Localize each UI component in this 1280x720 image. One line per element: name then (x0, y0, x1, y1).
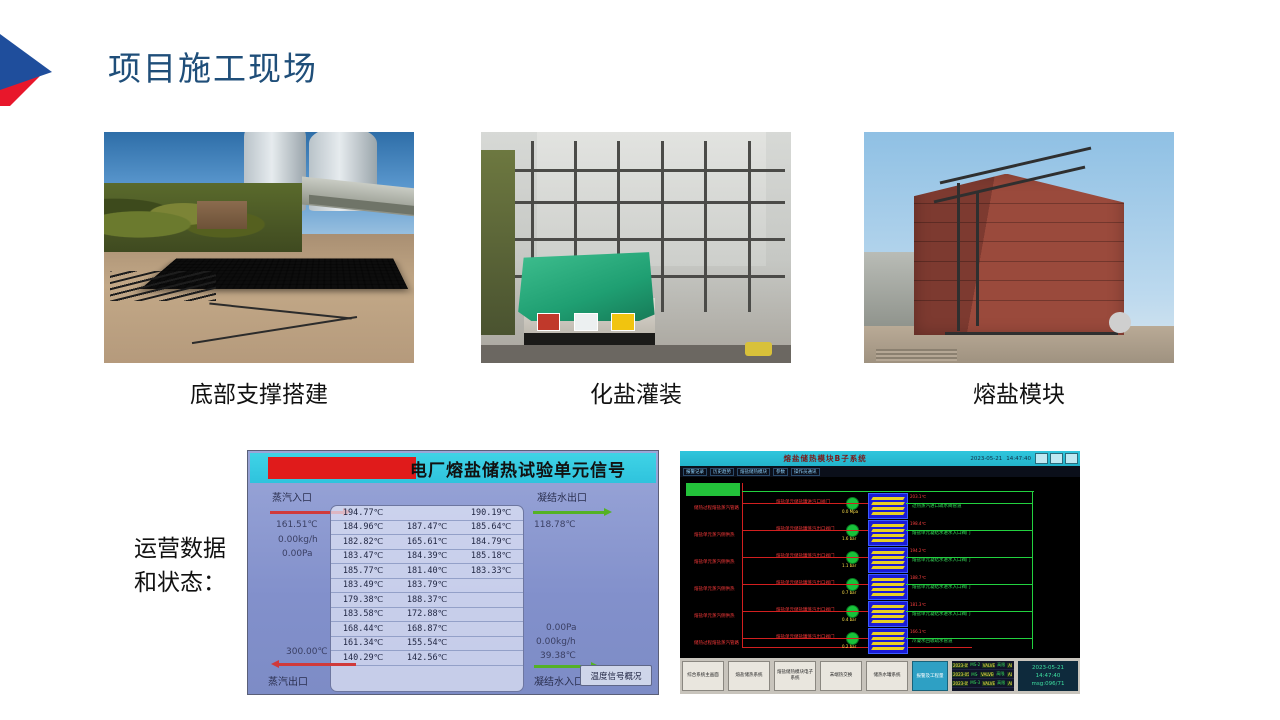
scada-mid-label: 熔盐单元储盐罐蒸汽出口阀门 (776, 607, 835, 613)
header-line-bottom (742, 647, 972, 648)
steel-stack (876, 349, 957, 361)
coil-bar (871, 561, 905, 564)
status-indicator-green (686, 483, 740, 496)
alarm-log-cell: VALVEOPEN/LOW (982, 681, 995, 686)
temperature-row: 168.44℃168.87℃ (331, 622, 523, 637)
scada-mid-label: 熔盐单元储盐罐蒸汽出口阀门 (776, 634, 835, 640)
plant-wall (537, 132, 766, 266)
scada-mimic-diagram: 储热过程熔盐蒸汽管路熔盐单元储盐罐进汽口阀门过热蒸汽进口疏水阀管道0.0 Mpa… (680, 477, 1080, 658)
heat-exchanger-module[interactable] (868, 520, 908, 546)
scada-nav-buttons[interactable]: 综合系统主画面熔盐储热系统熔盐储热模块电子系统末端热交换储热水罐系统 (680, 658, 910, 694)
scada-title: 熔盐储热模块B子系统 (680, 453, 970, 464)
temperature-cell: 183.79℃ (395, 580, 459, 590)
operations-label-line2: 和状态： (100, 566, 260, 600)
coil-bar (871, 556, 905, 559)
temperature-cell: 194.77℃ (331, 508, 395, 518)
scada-footer: 综合系统主画面熔盐储热系统熔盐储热模块电子系统末端热交换储热水罐系统 报警及工程… (680, 658, 1080, 694)
steam-inlet-pressure: 0.00Pa (282, 549, 313, 559)
steam-branch-line (742, 530, 868, 531)
coil-bar (871, 578, 905, 581)
scada-menu-bar[interactable]: 报警记录历史趋势熔盐储热模块参数操作员通讯 (680, 466, 1080, 477)
temperature-cell: 185.64℃ (459, 522, 523, 532)
temperature-cell: 182.82℃ (331, 537, 395, 547)
hmi-title-bar: 电厂熔盐储热试验单元信号 (250, 453, 656, 483)
scada-time: 14:47:40 (1006, 456, 1035, 462)
temperature-cell: 140.29℃ (331, 653, 395, 663)
coil-bar (871, 605, 905, 608)
coil-bar (871, 512, 905, 515)
temperature-row (331, 666, 523, 680)
temperature-row: 194.77℃190.19℃ (331, 506, 523, 521)
coil-bar (871, 620, 905, 623)
scaffold-rail (493, 169, 784, 172)
steam-branch-line (742, 503, 868, 504)
alarm-log-list[interactable]: 2023-05-21 14:46:02MS-2 模块 Pt-6VALVEOPEN… (952, 661, 1014, 691)
scada-left-label: 熔盐单元蒸汽侧供热 (694, 532, 735, 538)
photo1-scene (104, 132, 414, 363)
site-container (197, 201, 247, 229)
pump-value: 0.4 bar (842, 617, 856, 622)
coil-bar (871, 588, 905, 591)
temperature-cell: 161.34℃ (331, 638, 395, 648)
heat-exchanger-module[interactable] (868, 628, 908, 654)
steam-inlet-flow: 0.00kg/h (278, 535, 318, 545)
temperature-cell: 188.37℃ (395, 595, 459, 605)
temperature-cell: 155.54℃ (395, 638, 459, 648)
header-line-top (742, 491, 1034, 492)
temperature-cell: 181.40℃ (395, 566, 459, 576)
condensate-branch-line (906, 611, 1032, 612)
coil-bar (871, 615, 905, 618)
coil-bar (871, 610, 905, 613)
temperature-cell: 142.56℃ (395, 653, 459, 663)
coil-bar (871, 583, 905, 586)
temperature-cell: 168.87℃ (395, 624, 459, 634)
scada-clock-panel: 2023-05-21 14:47:40 msg:096/71 (1018, 661, 1078, 691)
scada-menu-item[interactable]: 参数 (773, 468, 788, 476)
page-title: 项目施工现场 (108, 42, 318, 90)
alarm-log-cell: 2023-05-21 14:46:41 (952, 672, 969, 677)
module-temperature: 188.7℃ (910, 575, 926, 580)
pump-value: 0.0 Mpa (842, 509, 858, 514)
coil-bar (871, 524, 905, 527)
photo3-scene (864, 132, 1174, 363)
scaffold-rail (493, 201, 784, 204)
alarm-log-row[interactable]: 2023-05-21 14:47:10MS-3 模块 Pt-9VALVEOPEN… (952, 679, 1014, 688)
pump-value: 0.7 bar (842, 590, 856, 595)
temperature-cell: 183.58℃ (331, 609, 395, 619)
scaffold-rail (493, 238, 784, 241)
alarm-log-cell: MS-2 模块 Pt-6 (970, 662, 980, 668)
alarm-log-cell: ALM (1007, 663, 1012, 668)
msg-counter: msg:096/71 (1032, 680, 1065, 688)
temperature-cell: 168.44℃ (331, 624, 395, 634)
scaffold-post (748, 141, 751, 312)
temperature-cell: 165.61℃ (395, 537, 459, 547)
coil-bar (871, 632, 905, 635)
double-arrow-logo (0, 28, 56, 106)
alarm-log-cell: VALVEOPEN/LOW (980, 672, 994, 677)
temperature-row: 183.47℃184.39℃185.18℃ (331, 550, 523, 565)
tree (481, 150, 515, 335)
scada-title-bar: 熔盐储热模块B子系统 2023-05-21 14:47:40 (680, 451, 1080, 466)
scada-left-label: 熔盐单元蒸汽侧供热 (694, 586, 735, 592)
temperature-cell: 179.38℃ (331, 595, 395, 605)
coil-bar (871, 593, 905, 596)
maximize-button[interactable] (1050, 453, 1063, 464)
scada-menu-item[interactable]: 操作员通讯 (791, 468, 820, 476)
temperature-row: 182.82℃165.61℃184.79℃ (331, 535, 523, 550)
pump-value: 1.6 bar (842, 536, 856, 541)
condensate-outlet-temp: 118.78℃ (534, 520, 576, 530)
warning-sign (611, 313, 635, 331)
green-tarp (518, 252, 654, 321)
minimize-button[interactable] (1035, 453, 1048, 464)
temperature-cell: 185.77℃ (331, 566, 395, 576)
alarm-log-cell: ALM (1007, 672, 1012, 677)
scada-nav-button[interactable]: 熔盐储热系统 (728, 661, 770, 691)
valve (1109, 312, 1131, 333)
photo-foundation-support (104, 132, 414, 363)
heat-exchanger-module[interactable] (868, 547, 908, 573)
temperature-row: 161.34℃155.54℃ (331, 637, 523, 652)
condensate-branch-line (906, 584, 1032, 585)
scada-mid-label: 熔盐单元储盐罐进汽口阀门 (776, 499, 830, 505)
alarm-log-row[interactable]: 2023-05-21 14:46:41MS-1 Pt-3VALVEOPEN/LO… (952, 670, 1014, 679)
close-button[interactable] (1065, 453, 1078, 464)
warning-sign (574, 313, 598, 331)
steam-outlet-temp: 300.00℃ (286, 647, 328, 657)
operations-label-line1: 运营数据 (100, 532, 260, 566)
scada-mid-label: 熔盐单元储盐罐蒸汽出口阀门 (776, 553, 835, 559)
scaffold-post (704, 141, 707, 312)
clock-time: 14:47:40 (1036, 672, 1061, 680)
scada-menu-item[interactable]: 报警记录 (683, 468, 707, 476)
temperature-table: 194.77℃190.19℃184.96℃187.47℃185.64℃182.8… (330, 505, 524, 692)
pump-value: 0.2 bar (842, 644, 856, 649)
condensate-branch-line (906, 638, 1032, 639)
condensate-branch-line (906, 557, 1032, 558)
condensate-inlet-pressure: 0.00Pa (546, 623, 577, 633)
hmi-title: 电厂熔盐储热试验单元信号 (280, 456, 626, 481)
steam-trunk-line (742, 483, 743, 648)
coil-bar (871, 647, 905, 650)
coil-bar (871, 539, 905, 542)
alarm-log-cell: 2023-05-21 14:47:10 (952, 681, 968, 686)
scada-nav-button[interactable]: 熔盐储热模块电子系统 (774, 661, 816, 691)
temperature-cell: 184.79℃ (459, 537, 523, 547)
module-temperature: 194.2℃ (910, 548, 926, 553)
alarm-button[interactable]: 报警及工程量 (912, 661, 948, 691)
photo-salt-melting-filling (481, 132, 791, 363)
scada-left-label: 储热过程熔盐蒸汽管路 (694, 505, 739, 511)
alarm-log-cell: 高限未确报警 (997, 680, 1005, 686)
temperature-cell: 190.19℃ (459, 508, 523, 518)
coil-bar (871, 529, 905, 532)
coil-bar (871, 566, 905, 569)
photo-caption-2: 化盐灌装 (481, 375, 791, 409)
coil-bar (871, 497, 905, 500)
scada-left-label: 熔盐单元蒸汽侧供热 (694, 613, 735, 619)
steam-outlet-label: 蒸汽出口 (268, 673, 308, 688)
condensate-branch-line (906, 503, 1032, 504)
condensate-outlet-label: 凝结水出口 (537, 489, 587, 504)
scada-nav-button[interactable]: 综合系统主画面 (682, 661, 724, 691)
rebar-pile (110, 271, 215, 301)
condensate-inlet-flow: 0.00kg/h (536, 637, 576, 647)
photo-caption-3: 熔盐模块 (864, 375, 1174, 409)
scada-menu-item[interactable]: 熔盐储热模块 (737, 468, 770, 476)
condensate-inlet-temp: 39.38℃ (540, 651, 576, 661)
module-temperature: 166.1℃ (910, 629, 926, 634)
riser-pipe (957, 183, 960, 331)
temperature-row: 185.77℃181.40℃183.33℃ (331, 564, 523, 579)
steam-inlet-label: 蒸汽入口 (272, 489, 312, 504)
coil-bar (871, 507, 905, 510)
alarm-log-cell: MS-3 模块 Pt-9 (970, 680, 980, 686)
temperature-cell: 187.47℃ (395, 522, 459, 532)
alarm-log-cell: VALVEOPEN/LOW (982, 663, 995, 668)
temperature-cell: 185.18℃ (459, 551, 523, 561)
alarm-log-cell: MS-1 Pt-3 (971, 672, 978, 677)
temperature-row: 140.29℃142.56℃ (331, 651, 523, 666)
scada-left-label: 熔盐单元蒸汽侧供热 (694, 559, 735, 565)
alarm-log-cell: 高限未确报警 (996, 671, 1005, 677)
condensate-outlet-arrow (533, 511, 605, 514)
steam-branch-line (742, 584, 868, 585)
temperature-row: 179.38℃188.37℃ (331, 593, 523, 608)
yellow-equipment (745, 342, 773, 356)
temperature-row: 183.58℃172.88℃ (331, 608, 523, 623)
temperature-cell: 183.47℃ (331, 551, 395, 561)
temperature-cell: 184.96℃ (331, 522, 395, 532)
steam-outlet-arrow (278, 663, 356, 666)
coil-bar (871, 642, 905, 645)
temperature-cell: 172.88℃ (395, 609, 459, 619)
alarm-log-cell: 高限未确报警 (997, 662, 1005, 668)
header-pipe (945, 332, 1119, 335)
hmi-screenshot: 电厂熔盐储热试验单元信号 蒸汽入口 161.51℃ 0.00kg/h 0.00P… (248, 451, 658, 694)
steam-branch-line (742, 557, 868, 558)
alarm-log-row[interactable]: 2023-05-21 14:46:02MS-2 模块 Pt-6VALVEOPEN… (952, 661, 1014, 670)
temperature-overview-button[interactable]: 温度信号概况 (580, 665, 652, 686)
photo-molten-salt-module (864, 132, 1174, 363)
alarm-log-cell: ALM (1007, 681, 1012, 686)
steam-branch-line (742, 638, 868, 639)
module-temperature: 203.1℃ (910, 494, 926, 499)
coil-bar (871, 534, 905, 537)
scada-left-label: 储热过程熔盐蒸汽管路 (694, 640, 739, 646)
clock-date: 2023-05-21 (1032, 664, 1064, 672)
coil-bar (871, 551, 905, 554)
temperature-cell: 183.33℃ (459, 566, 523, 576)
alarm-log-cell: 2023-05-21 14:46:02 (952, 663, 968, 668)
heat-exchanger-module[interactable] (868, 601, 908, 627)
module-temperature: 198.4℃ (910, 521, 926, 526)
heat-exchanger-module[interactable] (868, 574, 908, 600)
scada-screenshot: 熔盐储热模块B子系统 2023-05-21 14:47:40 报警记录历史趋势熔… (680, 451, 1080, 694)
temperature-row: 183.49℃183.79℃ (331, 579, 523, 594)
condensate-inlet-label: 凝结水入口 (534, 673, 584, 688)
scada-mid-label: 熔盐单元储盐罐蒸汽出口阀门 (776, 526, 835, 532)
scada-nav-button[interactable]: 末端热交换 (820, 661, 862, 691)
hmi-body: 蒸汽入口 161.51℃ 0.00kg/h 0.00Pa 凝结水出口 118.7… (248, 483, 658, 694)
scada-mid-label: 熔盐单元储盐罐蒸汽出口阀门 (776, 580, 835, 586)
operations-label: 运营数据 和状态： (100, 532, 260, 600)
slide-root: 项目施工现场 底部支撑搭建 (0, 0, 1280, 720)
photo-caption-1: 底部支撑搭建 (104, 375, 414, 409)
temperature-cell: 183.49℃ (331, 580, 395, 590)
module-temperature: 181.3℃ (910, 602, 926, 607)
scada-menu-item[interactable]: 历史趋势 (710, 468, 734, 476)
scaffold-post (661, 141, 664, 312)
background-building (864, 252, 917, 328)
coil-bar (871, 502, 905, 505)
steam-inlet-temp: 161.51℃ (276, 520, 318, 530)
warning-sign (537, 313, 561, 331)
temperature-row: 184.96℃187.47℃185.64℃ (331, 521, 523, 536)
condensate-branch-line (906, 530, 1032, 531)
heat-exchanger-module[interactable] (868, 493, 908, 519)
riser-pipe (976, 192, 979, 326)
condensate-trunk-line (1032, 491, 1033, 649)
pump-value: 1.1 bar (842, 563, 856, 568)
scada-nav-button[interactable]: 储热水罐系统 (866, 661, 908, 691)
scada-date: 2023-05-21 (970, 456, 1006, 462)
steam-branch-line (742, 611, 868, 612)
temperature-cell: 184.39℃ (395, 551, 459, 561)
photo2-scene (481, 132, 791, 363)
coil-bar (871, 637, 905, 640)
